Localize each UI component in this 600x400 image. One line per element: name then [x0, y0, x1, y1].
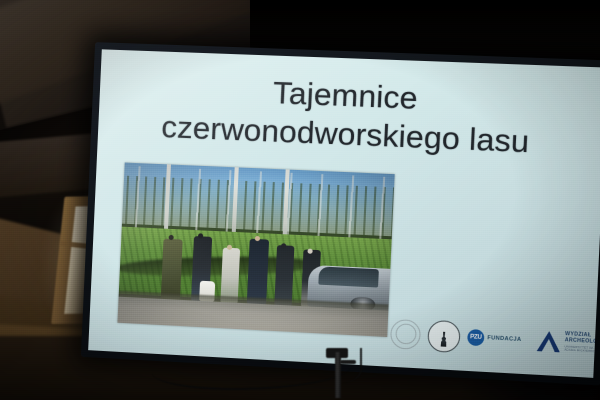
- ceiling-dark-upper: [250, 0, 600, 80]
- wall-mount-post: [335, 352, 341, 398]
- photo-scene: Tajemnice czerwonodworskiego lasu: [0, 0, 600, 400]
- wall-mount-arm: [340, 360, 356, 364]
